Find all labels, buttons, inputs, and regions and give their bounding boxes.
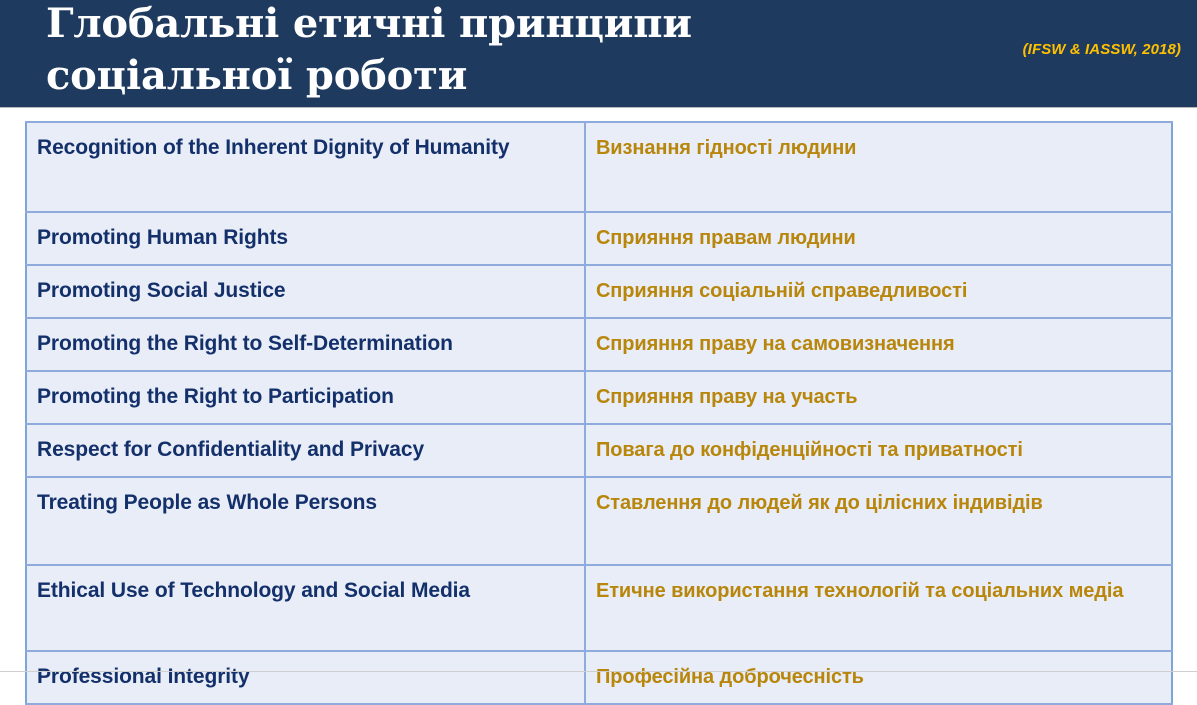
principle-en: Promoting the Right to Self-Determinatio… (26, 318, 585, 371)
page-title: Глобальні етичні принципи соціальної роб… (46, 0, 926, 102)
principle-uk: Сприяння праву на участь (585, 371, 1172, 424)
principle-en: Ethical Use of Technology and Social Med… (26, 565, 585, 651)
principle-en: Promoting Social Justice (26, 265, 585, 318)
table-row: Recognition of the Inherent Dignity of H… (26, 122, 1172, 212)
principle-uk: Сприяння правам людини (585, 212, 1172, 265)
principles-table-container: Recognition of the Inherent Dignity of H… (25, 121, 1173, 705)
principle-uk: Сприяння соціальній справедливості (585, 265, 1172, 318)
table-row: Treating People as Whole Persons Ставлен… (26, 477, 1172, 565)
principle-uk: Ставлення до людей як до цілісних індиві… (585, 477, 1172, 565)
principle-en: Professional Integrity (26, 651, 585, 704)
title-band-divider (0, 107, 1197, 108)
table-row: Respect for Confidentiality and Privacy … (26, 424, 1172, 477)
principle-en: Recognition of the Inherent Dignity of H… (26, 122, 585, 212)
principle-en: Promoting the Right to Participation (26, 371, 585, 424)
title-band: Глобальні етичні принципи соціальної роб… (0, 0, 1197, 107)
principle-uk: Повага до конфіденційності та приватност… (585, 424, 1172, 477)
principle-uk: Етичне використання технологій та соціал… (585, 565, 1172, 651)
principle-en: Respect for Confidentiality and Privacy (26, 424, 585, 477)
table-row: Promoting the Right to Self-Determinatio… (26, 318, 1172, 371)
principle-uk: Професійна доброчесність (585, 651, 1172, 704)
table-row: Ethical Use of Technology and Social Med… (26, 565, 1172, 651)
slide-root: { "slide": { "title": "Глобальні етичні … (0, 0, 1197, 676)
slide-bottom-rule (0, 671, 1197, 672)
principles-table: Recognition of the Inherent Dignity of H… (25, 121, 1173, 705)
table-row: Promoting Social Justice Сприяння соціал… (26, 265, 1172, 318)
table-row: Promoting Human Rights Сприяння правам л… (26, 212, 1172, 265)
table-row: Professional Integrity Професійна доброч… (26, 651, 1172, 704)
source-citation: (IFSW & IASSW, 2018) (1023, 41, 1181, 58)
principle-en: Treating People as Whole Persons (26, 477, 585, 565)
principles-table-body: Recognition of the Inherent Dignity of H… (26, 122, 1172, 704)
principle-en: Promoting Human Rights (26, 212, 585, 265)
principle-uk: Визнання гідності людини (585, 122, 1172, 212)
principle-uk: Сприяння праву на самовизначення (585, 318, 1172, 371)
table-row: Promoting the Right to Participation Спр… (26, 371, 1172, 424)
